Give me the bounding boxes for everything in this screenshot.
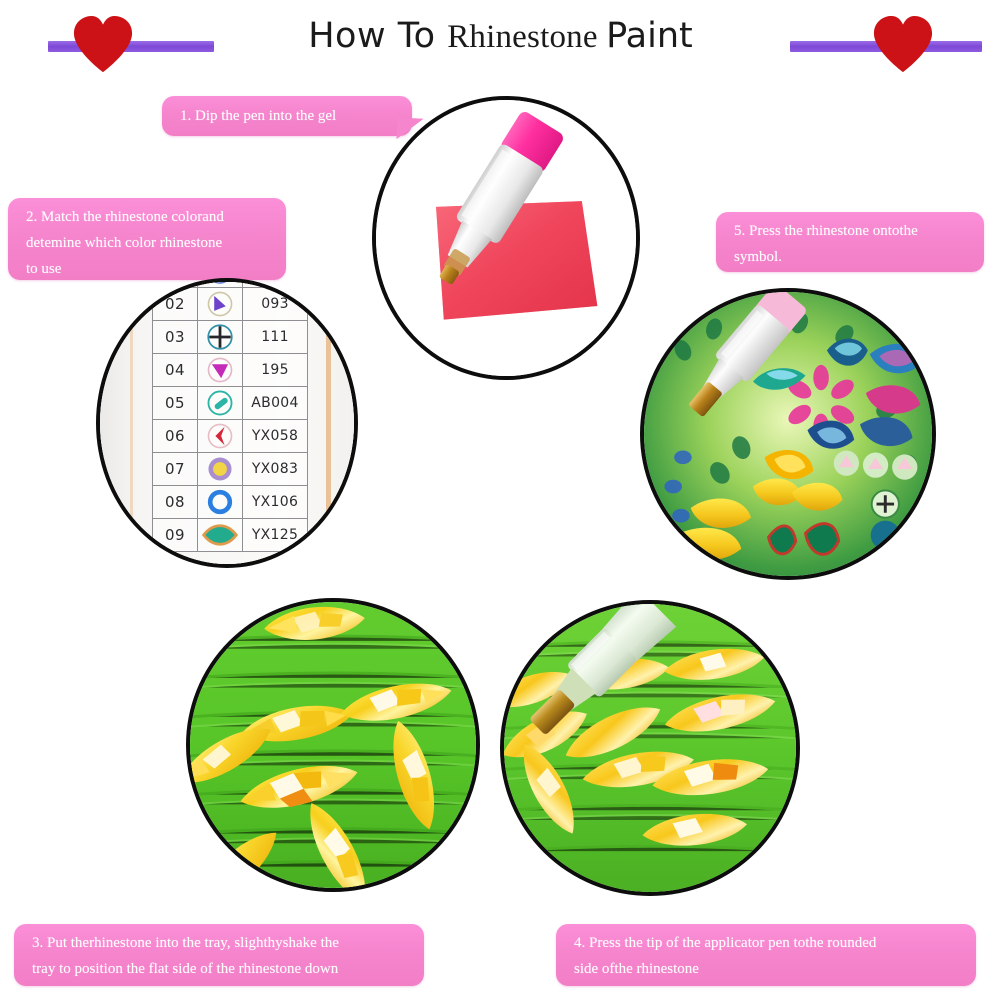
page-title-part-1: How To xyxy=(308,16,447,56)
chart-cell-number: 06 xyxy=(153,420,198,453)
leaf-symbol-icon xyxy=(198,519,243,552)
step-5-label-line-1: 5. Press the rhinestone ontothe xyxy=(734,218,970,244)
slash-circle-symbol-icon xyxy=(198,387,243,420)
page-header: How To Rhinestone Paint xyxy=(0,0,1001,86)
step-3-label: 3. Put therhinestone into the tray, slig… xyxy=(14,924,424,986)
triangle-down-symbol-icon xyxy=(198,354,243,387)
step-4-photo-content xyxy=(504,604,796,892)
step-4-label: 4. Press the tip of the applicator pen t… xyxy=(556,924,976,986)
step-4-photo xyxy=(500,600,800,896)
color-chart-table: 020 02 093 03 xyxy=(152,278,308,552)
chart-cell-code: YX125 xyxy=(243,519,308,552)
chart-cell-code: AB004 xyxy=(243,387,308,420)
chart-cell-number: 07 xyxy=(153,453,198,486)
chart-cell-number: 02 xyxy=(153,288,198,321)
step-5-photo xyxy=(640,288,936,580)
step-5-label-line-2: symbol. xyxy=(734,244,970,270)
chart-cell-code: 111 xyxy=(243,321,308,354)
chart-cell-number: 09 xyxy=(153,519,198,552)
step-4-label-line-1: 4. Press the tip of the applicator pen t… xyxy=(574,930,962,956)
step-5-photo-content xyxy=(644,292,932,576)
page-title: How To Rhinestone Paint xyxy=(0,16,1001,56)
step-2-label-line-2: detemine which color rhinestone xyxy=(26,230,272,256)
ring-circle-symbol-icon xyxy=(198,486,243,519)
chart-cell-code: 195 xyxy=(243,354,308,387)
dot-circle-symbol-icon xyxy=(198,453,243,486)
chart-cell-number: 05 xyxy=(153,387,198,420)
table-row: 03 111 xyxy=(153,321,308,354)
page-title-part-2: Rhinestone xyxy=(447,19,606,55)
step-3-label-line-1: 3. Put therhinestone into the tray, slig… xyxy=(32,930,410,956)
table-row: 02 093 xyxy=(153,288,308,321)
step-1-photo-content xyxy=(376,100,636,376)
step-1-label: 1. Dip the pen into the gel xyxy=(162,96,412,136)
triangle-symbol-icon xyxy=(198,288,243,321)
table-row: 07 YX083 xyxy=(153,453,308,486)
chart-cell-code: YX106 xyxy=(243,486,308,519)
step-5-label: 5. Press the rhinestone ontothe symbol. xyxy=(716,212,984,272)
step-3-photo-content xyxy=(190,602,476,888)
table-row: 09 YX125 xyxy=(153,519,308,552)
step-3-photo xyxy=(186,598,480,892)
chart-cell-number: 08 xyxy=(153,486,198,519)
chart-margin-line-left xyxy=(130,278,133,568)
table-row: 08 YX106 xyxy=(153,486,308,519)
color-chart-body: 020 02 093 03 xyxy=(153,278,308,552)
step-2-label-line-1: 2. Match the rhinestone colorand xyxy=(26,204,272,230)
arrow-left-symbol-icon xyxy=(198,420,243,453)
chart-cell-number: 03 xyxy=(153,321,198,354)
color-chart-photo-content: 020 02 093 03 xyxy=(96,278,358,568)
step-2-label: 2. Match the rhinestone colorand detemin… xyxy=(8,198,286,280)
chart-cell-code: YX083 xyxy=(243,453,308,486)
double-dot-circle-symbol-icon xyxy=(198,278,243,288)
page-title-part-3: Paint xyxy=(606,16,693,56)
step-1-label-text: 1. Dip the pen into the gel xyxy=(180,108,336,124)
plus-circle-symbol-icon xyxy=(198,321,243,354)
chart-cell-code: YX058 xyxy=(243,420,308,453)
chart-cell-number: 04 xyxy=(153,354,198,387)
step-1-photo xyxy=(372,96,640,380)
step-4-label-line-2: side ofthe rhinestone xyxy=(574,956,962,982)
table-row: 04 195 xyxy=(153,354,308,387)
table-row: 06 YX058 xyxy=(153,420,308,453)
chart-cell-code: 093 xyxy=(243,288,308,321)
step-3-label-line-2: tray to position the flat side of the rh… xyxy=(32,956,410,982)
step-2-photo: 020 02 093 03 xyxy=(96,278,358,568)
table-row: 05 AB004 xyxy=(153,387,308,420)
chart-margin-line-right xyxy=(326,278,331,568)
